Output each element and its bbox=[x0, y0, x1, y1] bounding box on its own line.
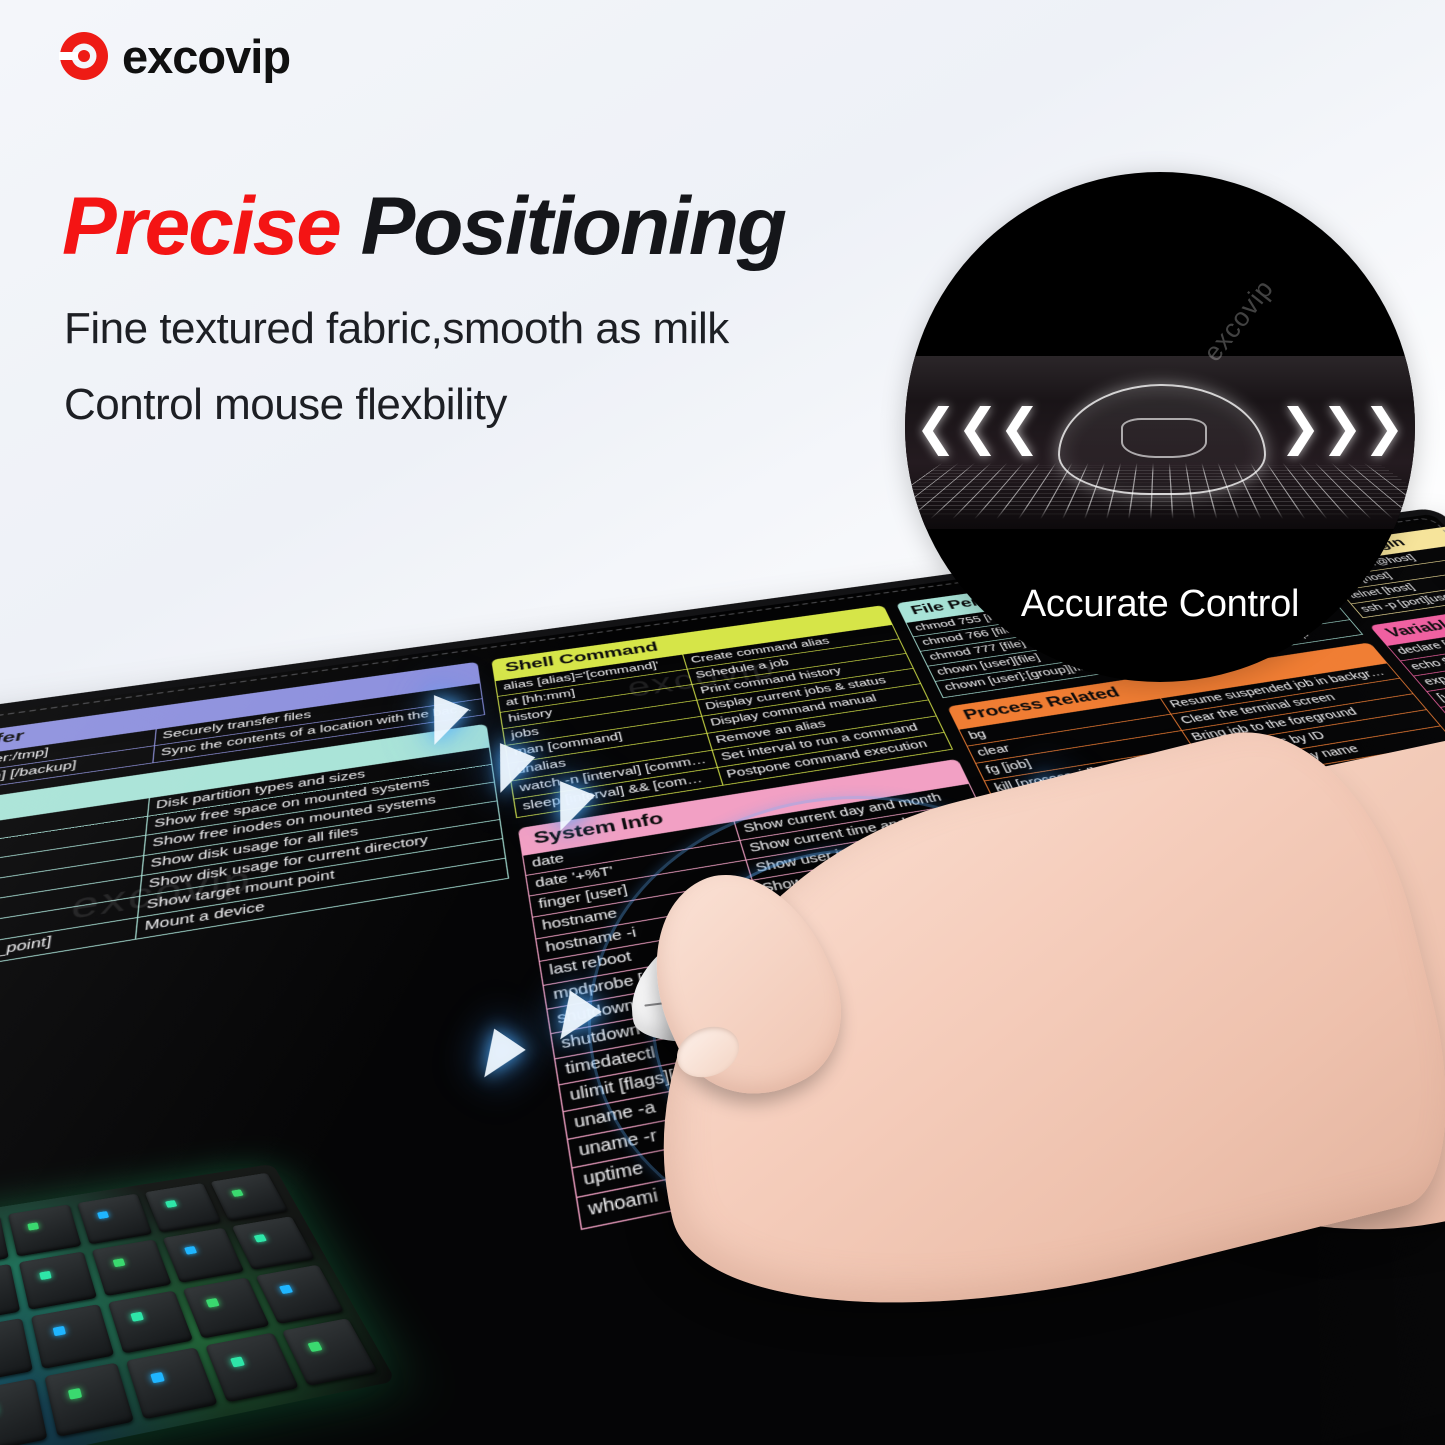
keyboard-key bbox=[77, 1194, 152, 1245]
accurate-control-callout: ❮❮❮ ❯❯❯ excovip Accurate Control bbox=[905, 172, 1415, 682]
keyboard-key bbox=[0, 1318, 33, 1385]
subtitle-line-2: Control mouse flexbility bbox=[64, 380, 507, 430]
keyboard-key bbox=[31, 1304, 115, 1369]
target-dot-icon bbox=[58, 30, 110, 82]
marketing-banner: excovip Precise Positioning Fine texture… bbox=[0, 0, 1445, 1445]
inset-caption: Accurate Control bbox=[905, 583, 1415, 626]
headline-rest: Positioning bbox=[340, 181, 785, 272]
keyboard-key bbox=[108, 1290, 194, 1354]
brand-name: excovip bbox=[122, 33, 290, 80]
keyboard-key bbox=[145, 1183, 221, 1232]
brand-logo: excovip bbox=[58, 30, 290, 82]
chevron-right-icon: ❯❯❯ bbox=[1279, 402, 1405, 452]
keyboard-key bbox=[8, 1204, 82, 1256]
inset-watermark: excovip bbox=[1197, 273, 1280, 367]
page-title: Precise Positioning bbox=[62, 186, 785, 268]
keyboard-key bbox=[0, 1378, 48, 1445]
keyboard-key bbox=[0, 1216, 9, 1269]
keyboard-key bbox=[92, 1239, 172, 1296]
keyboard-key bbox=[163, 1228, 245, 1283]
subtitle-line-1: Fine textured fabric,smooth as milk bbox=[64, 304, 729, 354]
chevron-left-icon: ❮❮❮ bbox=[915, 402, 1041, 452]
keyboard-key bbox=[183, 1277, 270, 1339]
keyboard-key bbox=[0, 1264, 20, 1324]
keyboard-key bbox=[19, 1251, 97, 1309]
headline-accent: Precise bbox=[62, 181, 340, 272]
